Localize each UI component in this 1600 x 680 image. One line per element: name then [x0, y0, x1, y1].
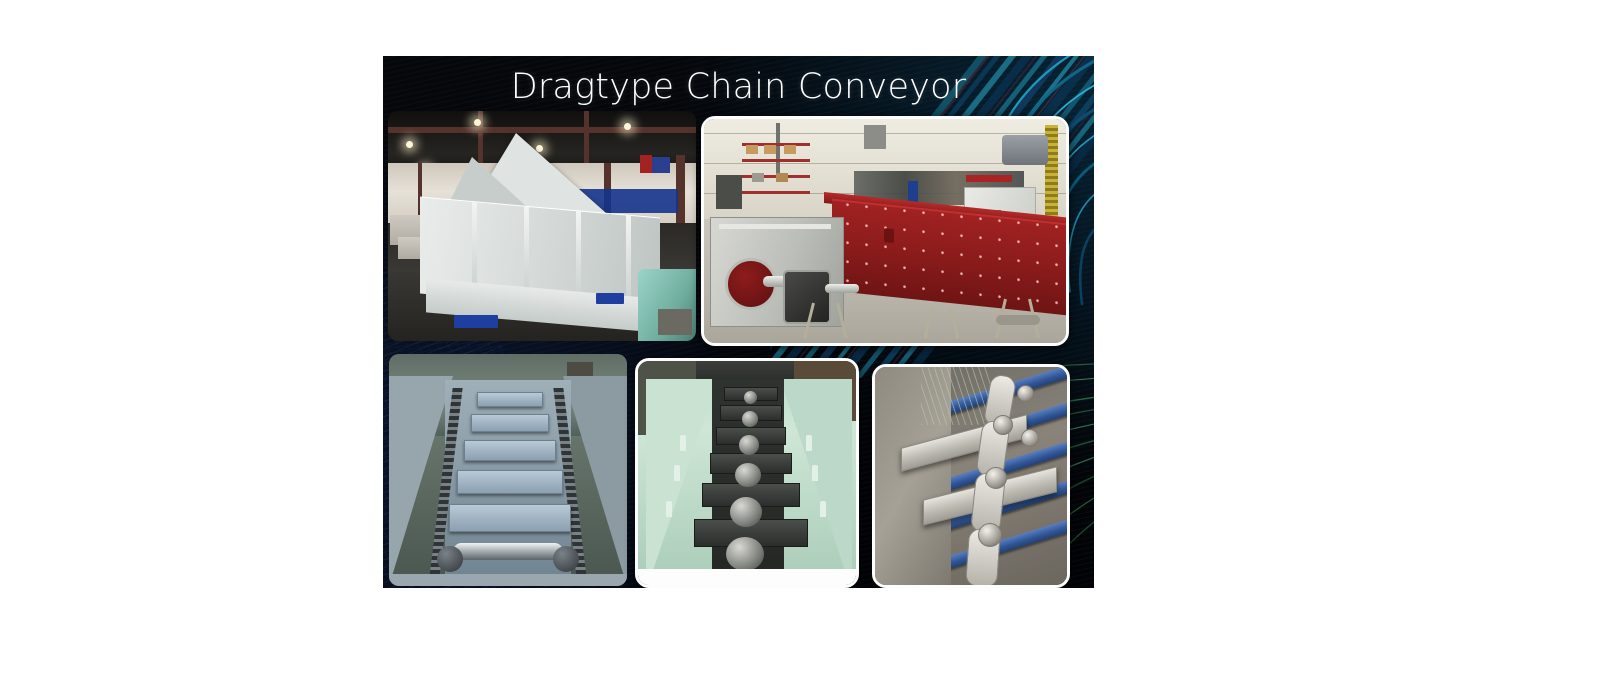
chain-roller: [735, 463, 761, 487]
blue-label-plate: [454, 315, 498, 328]
shop-light: [406, 141, 413, 148]
shelf-box: [752, 173, 764, 182]
sprocket-left: [437, 546, 463, 572]
lifting-lug: [884, 228, 894, 243]
photo-trough-green[interactable]: [635, 358, 859, 588]
tail-roller-shaft: [453, 543, 563, 560]
shelf-box: [776, 173, 788, 182]
drive-motor: [1002, 135, 1048, 165]
chain-pin: [978, 523, 1002, 547]
trough-end-plate: [389, 574, 627, 586]
blue-fixture: [908, 181, 918, 203]
chain-roller: [726, 537, 764, 571]
flight-bar: [464, 440, 556, 461]
photo-trough-blue[interactable]: [389, 354, 627, 586]
output-shaft: [825, 284, 859, 293]
chain-roller: [744, 391, 757, 404]
mounting-tab: [680, 435, 686, 451]
photo-trough-green-content: [638, 361, 856, 585]
photo-conveyor-hood-content: [388, 111, 696, 341]
weed-growth: [921, 367, 991, 425]
mounting-tab: [820, 501, 826, 517]
shelf-box: [764, 145, 776, 154]
floor-equipment: [658, 309, 692, 335]
red-flange: [966, 175, 1012, 182]
mounting-tab: [674, 465, 680, 481]
trough-right-wall: [780, 379, 852, 585]
photo-red-conveyor[interactable]: [701, 116, 1069, 346]
chain-roller: [739, 435, 759, 455]
drive-head-housing: [710, 217, 844, 327]
chain-pin: [985, 467, 1007, 489]
photo-conveyor-hood[interactable]: [388, 111, 696, 341]
shop-light: [474, 119, 481, 126]
slide-canvas: Dragtype Chain Conveyor: [383, 56, 1094, 588]
housing-flange: [719, 224, 831, 229]
shelf-box: [784, 145, 796, 154]
shop-light: [624, 123, 631, 130]
mounting-tab: [666, 501, 672, 517]
flight-bar: [477, 392, 543, 407]
parts-shelf: [742, 143, 810, 201]
gearbox: [783, 270, 831, 324]
sprocket-right: [553, 546, 579, 572]
chain-roller-side: [1021, 429, 1039, 447]
photo-chain-detail[interactable]: [872, 364, 1070, 588]
photo-trough-blue-content: [389, 354, 627, 586]
mounting-tab: [806, 435, 812, 451]
chain-roller-side: [1017, 385, 1034, 402]
electrical-cabinet: [716, 175, 742, 209]
flight-bar: [457, 470, 563, 494]
flight-bar: [449, 504, 571, 532]
page-title: Dragtype Chain Conveyor: [383, 64, 1094, 111]
photo-red-conveyor-content: [704, 119, 1066, 343]
chain-pin: [993, 415, 1013, 435]
photo-chain-detail-content: [875, 367, 1067, 585]
wall-panel-box: [864, 125, 886, 149]
photo-bottom-frame: [638, 569, 856, 585]
shelf-box: [746, 145, 758, 154]
trough-left-wall: [646, 379, 718, 585]
chain-roller: [730, 497, 762, 527]
mounting-tab: [812, 465, 818, 481]
floor-drain: [996, 315, 1040, 325]
chain-roller: [742, 411, 758, 427]
flight-bar: [471, 414, 549, 432]
blue-label-plate: [596, 293, 624, 304]
